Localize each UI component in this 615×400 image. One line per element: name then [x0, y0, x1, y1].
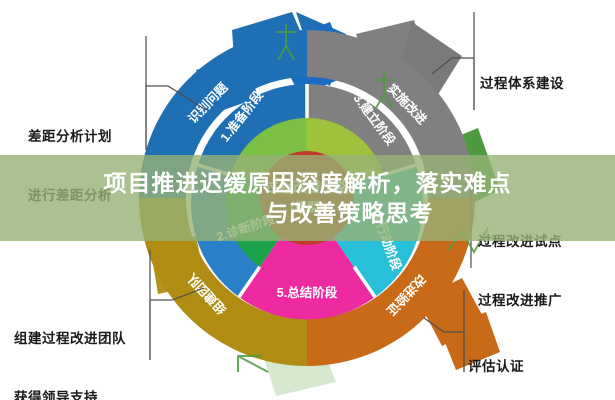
headline-line-2: 与改善策略思考: [182, 198, 434, 228]
callout-process-system: 过程体系建设: [480, 35, 564, 133]
stage-label-5: 5.总结阶段: [277, 285, 338, 300]
callout-team-line-2: 获得领导支持: [14, 388, 126, 400]
screenshot-root: 识别问题 实施改进 改进验证 组建团队: [0, 0, 615, 400]
headline-line-1: 项目推进迟缓原因深度解析，落实难点: [104, 168, 512, 198]
callout-assessment-summary: 评估认证 过程改进总结: [468, 318, 552, 400]
callout-team-line-1: 组建过程改进团队: [14, 329, 126, 349]
callout-assess-line-1: 评估认证: [468, 357, 552, 377]
callout-system-line-1: 过程体系建设: [480, 74, 564, 94]
headline-overlay-banner: 项目推进迟缓原因深度解析，落实难点 与改善策略思考: [0, 155, 615, 241]
callout-gap-line-1: 差距分析计划: [28, 127, 112, 147]
callout-build-team: 组建过程改进团队 获得领导支持: [14, 290, 126, 400]
callout-pilot-line-2: 过程改进推广: [478, 291, 562, 311]
